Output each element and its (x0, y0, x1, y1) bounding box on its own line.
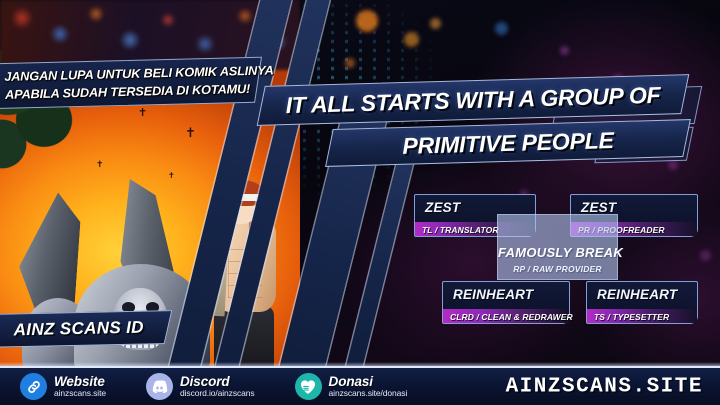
credit-name: REINHEART (443, 282, 569, 304)
bokeh-dot (404, 32, 419, 47)
heart-hand-icon[interactable] (295, 373, 322, 400)
credit-card-raw-provider: FAMOUSLY BREAK RP / RAW PROVIDER (497, 214, 618, 280)
bird-silhouette: ✝ (168, 172, 175, 180)
link-title: Donasi (329, 375, 408, 389)
credit-card-cleaner-redrawer: REINHEART CLRD / CLEAN & REDRAWER (442, 281, 570, 324)
link-subtitle: ainzscans.site (54, 389, 106, 398)
credit-card-typesetter: REINHEART TS / TYPESETTER (586, 281, 698, 324)
credit-name: REINHEART (587, 282, 697, 304)
link-text: Donasi ainzscans.site/donasi (329, 375, 408, 397)
footer-link-website[interactable]: Website ainzscans.site (20, 373, 106, 400)
link-title: Website (54, 375, 106, 389)
footer-link-donasi[interactable]: Donasi ainzscans.site/donasi (295, 373, 408, 400)
bokeh-dot (668, 160, 678, 170)
link-subtitle: ainzscans.site/donasi (329, 389, 408, 398)
overlay-credit-name: FAMOUSLY BREAK (498, 215, 617, 260)
bokeh-dot (700, 250, 711, 261)
credit-role: TS / TYPESETTER (587, 309, 697, 323)
buy-original-notice: JANGAN LUPA UNTUK BELI KOMIK ASLINYA APA… (0, 57, 262, 110)
title-line2-text: PRIMITIVE PEOPLE (402, 127, 614, 160)
overlay-credit-role: RP / RAW PROVIDER (498, 260, 617, 274)
link-title: Discord (180, 375, 255, 389)
link-subtitle: discord.io/ainzscans (180, 389, 255, 398)
bird-silhouette: ✝ (96, 160, 104, 169)
site-brand: AINZSCANS.SITE (506, 375, 703, 398)
bokeh-dot (495, 22, 508, 35)
link-text: Website ainzscans.site (54, 375, 106, 397)
link-icon[interactable] (20, 373, 47, 400)
footer-link-discord[interactable]: Discord discord.io/ainzscans (146, 373, 255, 400)
title-line1-text: IT ALL STARTS WITH A GROUP OF (285, 81, 661, 118)
scanlation-group-banner: AINZ SCANS ID (0, 310, 172, 348)
footer-bar: Website ainzscans.site Discord discord.i… (0, 366, 720, 405)
discord-icon[interactable] (146, 373, 173, 400)
promo-banner: ✝ ✝ ✝ ✝ IT ALL STARTS WITH A GROUP OF (0, 0, 720, 405)
credit-role: CLRD / CLEAN & REDRAWER (443, 309, 569, 323)
bird-silhouette: ✝ (185, 126, 196, 139)
bokeh-dot (345, 58, 355, 68)
bird-silhouette: ✝ (138, 108, 147, 119)
bokeh-dot (356, 10, 378, 32)
bokeh-dot (430, 18, 441, 29)
link-text: Discord discord.io/ainzscans (180, 375, 255, 397)
bokeh-dot (560, 46, 569, 55)
scanlation-group-label: AINZ SCANS ID (13, 318, 144, 340)
